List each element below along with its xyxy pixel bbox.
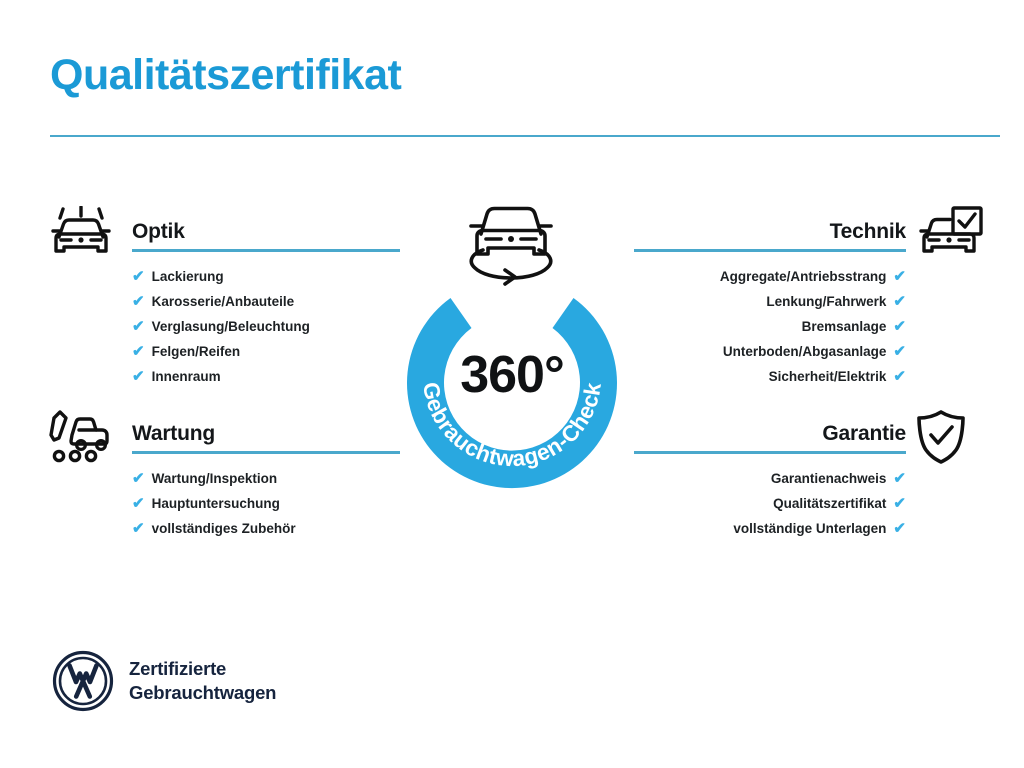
check-icon: ✔ [893, 369, 906, 384]
list-item-label: Verglasung/Beleuchtung [152, 320, 310, 334]
footer-brand-lockup: Zertifizierte Gebrauchtwagen [52, 650, 276, 712]
section-divider-garantie [634, 451, 906, 454]
section-title-optik: Optik [132, 220, 185, 244]
title-divider [50, 135, 1000, 137]
section-technik: Technik ✔Aggregate/Antriebsstrang ✔Lenku… [624, 206, 984, 389]
check-icon: ✔ [132, 294, 145, 309]
check-icon: ✔ [132, 344, 145, 359]
list-item-label: Hauptuntersuchung [152, 497, 280, 511]
list-item-label: Innenraum [152, 370, 221, 384]
list-item-label: Karosserie/Anbauteile [152, 295, 295, 309]
section-title-technik: Technik [830, 220, 906, 244]
check-icon: ✔ [893, 294, 906, 309]
list-item-label: Sicherheit/Elektrik [769, 370, 887, 384]
check-icon: ✔ [132, 369, 145, 384]
list-item: ✔Hauptuntersuchung [132, 491, 400, 516]
section-header-wartung: Wartung [40, 408, 400, 454]
gebrauchtwagen-check-badge: Gebrauchtwagen-Check 360° [383, 196, 641, 496]
check-icon: ✔ [893, 319, 906, 334]
section-wartung: Wartung ✔Wartung/Inspektion ✔Hauptunters… [40, 408, 400, 541]
list-item-label: Lackierung [152, 270, 224, 284]
list-item: ✔Unterboden/Abgasanlage [624, 339, 906, 364]
section-divider-wartung [132, 451, 400, 454]
list-item: ✔Lackierung [132, 264, 400, 289]
list-item: ✔Karosserie/Anbauteile [132, 289, 400, 314]
check-icon: ✔ [893, 344, 906, 359]
checklist-technik: ✔Aggregate/Antriebsstrang ✔Lenkung/Fahrw… [624, 252, 906, 389]
list-item-label: Aggregate/Antriebsstrang [720, 270, 887, 284]
check-icon: ✔ [132, 496, 145, 511]
check-icon: ✔ [132, 471, 145, 486]
checklist-optik: ✔Lackierung ✔Karosserie/Anbauteile ✔Verg… [132, 252, 400, 389]
section-divider-optik [132, 249, 400, 252]
list-item: ✔Felgen/Reifen [132, 339, 400, 364]
list-item: ✔Lenkung/Fahrwerk [624, 289, 906, 314]
list-item: ✔Innenraum [132, 364, 400, 389]
list-item-label: Unterboden/Abgasanlage [723, 345, 887, 359]
check-icon: ✔ [893, 269, 906, 284]
list-item-label: Lenkung/Fahrwerk [766, 295, 886, 309]
list-item-label: Bremsanlage [802, 320, 887, 334]
list-item: ✔Sicherheit/Elektrik [624, 364, 906, 389]
list-item-label: vollständige Unterlagen [733, 522, 886, 536]
check-icon: ✔ [132, 269, 145, 284]
page-title: Qualitätszertifikat [50, 52, 401, 99]
check-icon: ✔ [132, 521, 145, 536]
footer-line-1: Zertifizierte [129, 657, 276, 681]
section-header-technik: Technik [624, 206, 984, 252]
section-divider-technik [634, 249, 906, 252]
list-item-label: Wartung/Inspektion [152, 472, 278, 486]
section-optik: Optik ✔Lackierung ✔Karosserie/Anbauteile… [40, 206, 400, 389]
list-item-label: Qualitätszertifikat [773, 497, 886, 511]
list-item: ✔Qualitätszertifikat [624, 491, 906, 516]
list-item: ✔Bremsanlage [624, 314, 906, 339]
check-icon: ✔ [893, 521, 906, 536]
section-garantie: Garantie ✔Garantienachweis ✔Qualitätszer… [624, 408, 984, 541]
list-item-label: Felgen/Reifen [152, 345, 241, 359]
check-icon: ✔ [132, 319, 145, 334]
footer-line-2: Gebrauchtwagen [129, 681, 276, 705]
section-header-garantie: Garantie [624, 408, 984, 454]
list-item-label: vollständiges Zubehör [152, 522, 296, 536]
list-item: ✔Verglasung/Beleuchtung [132, 314, 400, 339]
section-title-garantie: Garantie [822, 422, 906, 446]
section-header-optik: Optik [40, 206, 400, 252]
checklist-wartung: ✔Wartung/Inspektion ✔Hauptuntersuchung ✔… [132, 454, 400, 541]
list-item: ✔Garantienachweis [624, 466, 906, 491]
badge-degrees-label: 360° [383, 345, 641, 405]
check-icon: ✔ [893, 496, 906, 511]
list-item-label: Garantienachweis [771, 472, 887, 486]
list-item: ✔vollständiges Zubehör [132, 516, 400, 541]
section-title-wartung: Wartung [132, 422, 215, 446]
footer-brand-text: Zertifizierte Gebrauchtwagen [129, 657, 276, 704]
list-item: ✔Wartung/Inspektion [132, 466, 400, 491]
check-icon: ✔ [893, 471, 906, 486]
list-item: ✔Aggregate/Antriebsstrang [624, 264, 906, 289]
volkswagen-logo [52, 650, 114, 712]
checklist-garantie: ✔Garantienachweis ✔Qualitätszertifikat ✔… [624, 454, 906, 541]
list-item: ✔vollständige Unterlagen [624, 516, 906, 541]
